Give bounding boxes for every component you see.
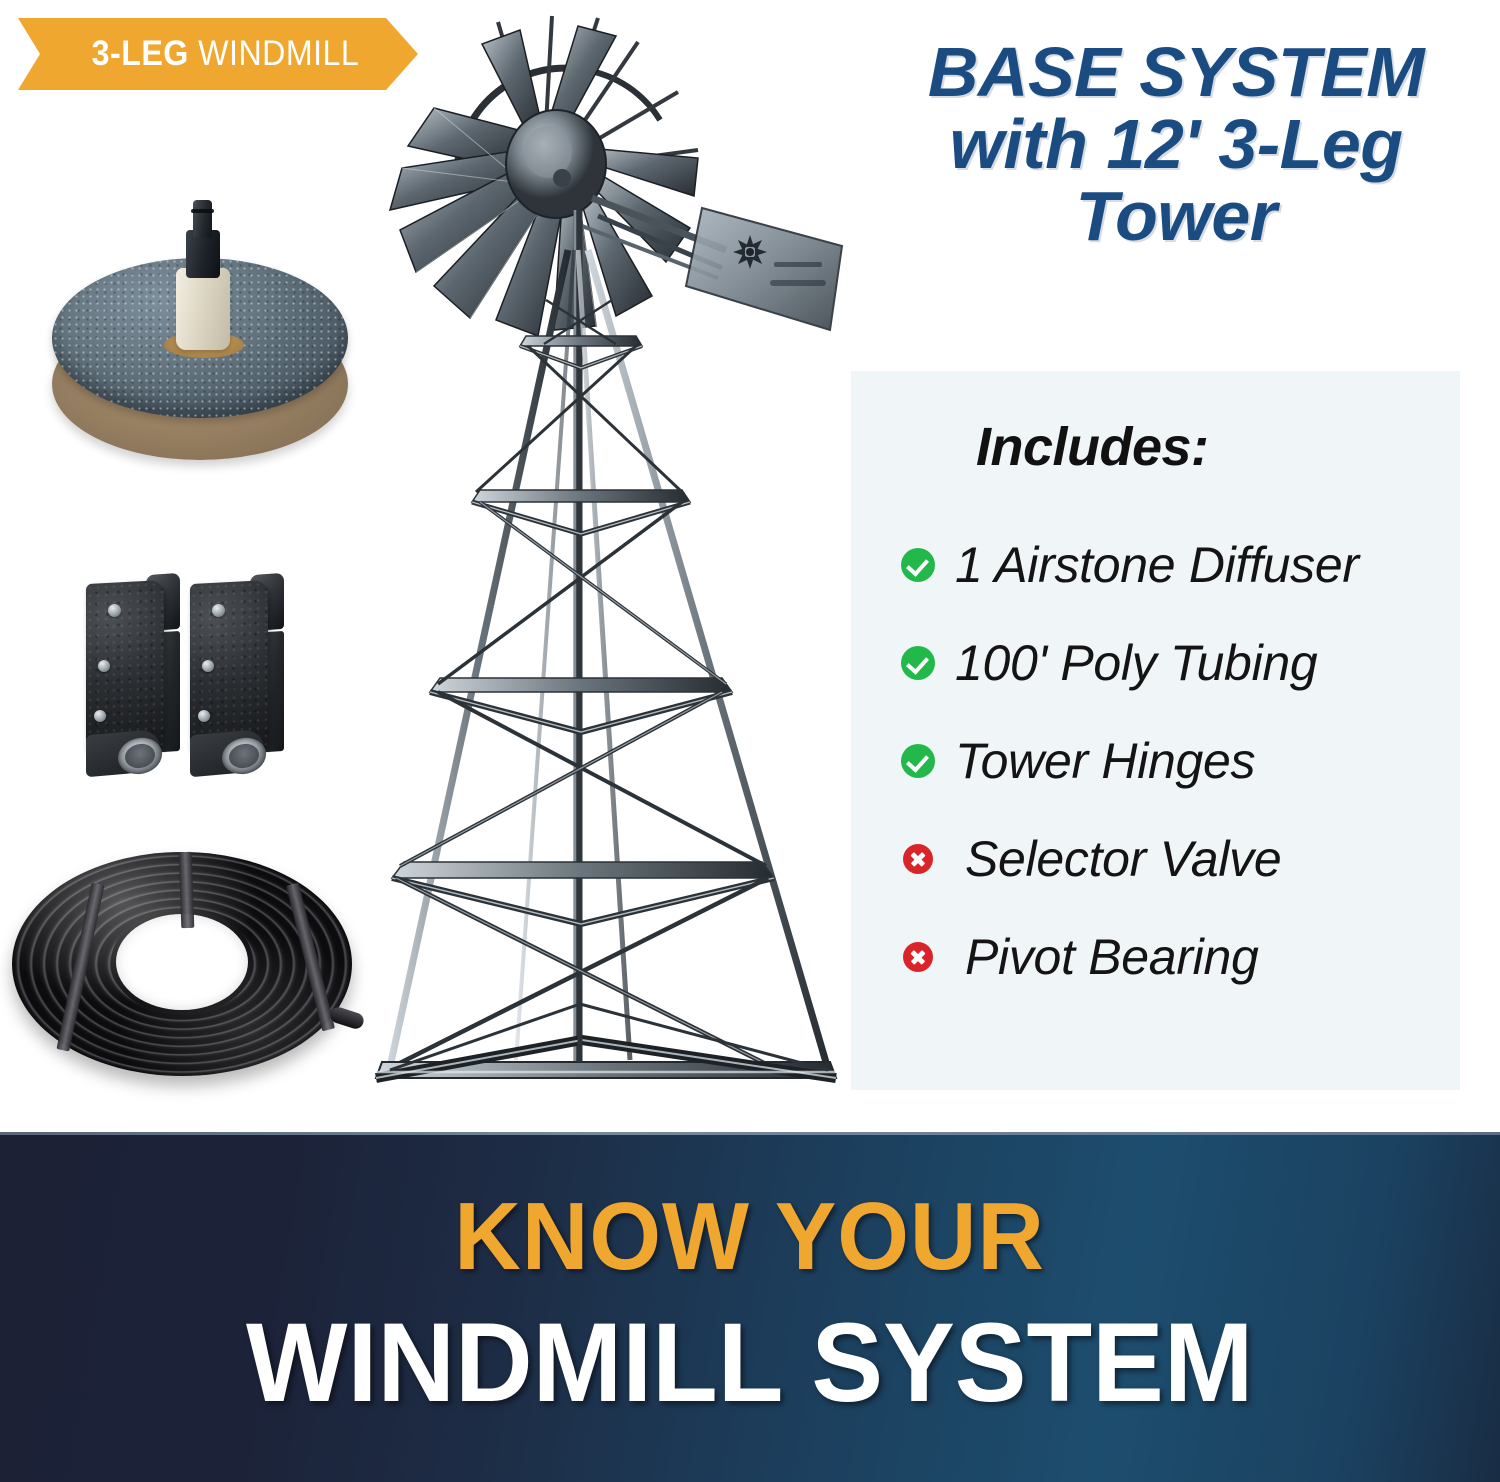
cross-circle-icon xyxy=(895,844,941,874)
includes-heading: Includes: xyxy=(976,416,1209,478)
banner-line-1: KNOW YOUR xyxy=(455,1189,1046,1285)
list-item: Tower Hinges xyxy=(895,712,1446,810)
poly-tubing-coil-photo xyxy=(12,852,364,1098)
title-line-2: with 12' 3-Leg xyxy=(866,108,1486,180)
hinge-bolt xyxy=(98,660,110,672)
infographic-page: 3-LEG WINDMILL xyxy=(0,0,1500,1482)
includes-list: 1 Airstone Diffuser 100' Poly Tubing Tow… xyxy=(895,516,1446,1006)
list-item: Pivot Bearing xyxy=(895,908,1446,1006)
tubing-strap xyxy=(179,852,195,928)
airstone-diffuser-photo xyxy=(36,190,366,490)
bottom-banner: KNOW YOUR WINDMILL SYSTEM xyxy=(0,1132,1500,1482)
includes-panel: Includes: 1 Airstone Diffuser 100' Poly … xyxy=(851,371,1460,1090)
list-item-label: 1 Airstone Diffuser xyxy=(941,536,1359,594)
title-line-3: Tower xyxy=(866,180,1486,252)
tower-platform-bands xyxy=(392,336,774,924)
tower-base xyxy=(376,990,836,1078)
tower-legs xyxy=(388,250,830,1076)
list-item-label: Pivot Bearing xyxy=(941,928,1259,986)
page-title: BASE SYSTEM with 12' 3-Leg Tower xyxy=(866,36,1486,252)
tower-hinges-photo xyxy=(82,572,302,802)
list-item-label: Tower Hinges xyxy=(941,732,1255,790)
list-item: 1 Airstone Diffuser xyxy=(895,516,1446,614)
hinge-bolt xyxy=(202,660,214,672)
hinge-bolt xyxy=(108,604,121,617)
tower-hinge-right xyxy=(190,572,286,777)
windmill-tower-svg xyxy=(330,0,870,1110)
badge-label: 3-LEG WINDMILL xyxy=(91,34,359,74)
list-item-label: 100' Poly Tubing xyxy=(941,634,1317,692)
banner-content: KNOW YOUR WINDMILL SYSTEM xyxy=(0,1132,1500,1482)
hinge-bolt xyxy=(212,604,225,617)
list-item: Selector Valve xyxy=(895,810,1446,908)
hinge-bolt xyxy=(94,710,106,722)
cross-circle-icon xyxy=(895,942,941,972)
airstone-barb-connector xyxy=(193,200,212,238)
windmill-fan-wheel xyxy=(390,16,698,336)
windmill-tower-photo xyxy=(330,0,870,1110)
title-line-1: BASE SYSTEM xyxy=(866,36,1486,108)
list-item-label: Selector Valve xyxy=(941,830,1281,888)
hinge-bolt xyxy=(198,710,210,722)
list-item: 100' Poly Tubing xyxy=(895,614,1446,712)
check-circle-icon xyxy=(895,548,941,582)
banner-line-2: WINDMILL SYSTEM xyxy=(246,1307,1253,1419)
badge-strong-text: 3-LEG xyxy=(91,34,188,73)
airstone-collar xyxy=(176,268,230,350)
check-circle-icon xyxy=(895,646,941,680)
check-circle-icon xyxy=(895,744,941,778)
tower-hinge-left xyxy=(86,572,182,777)
